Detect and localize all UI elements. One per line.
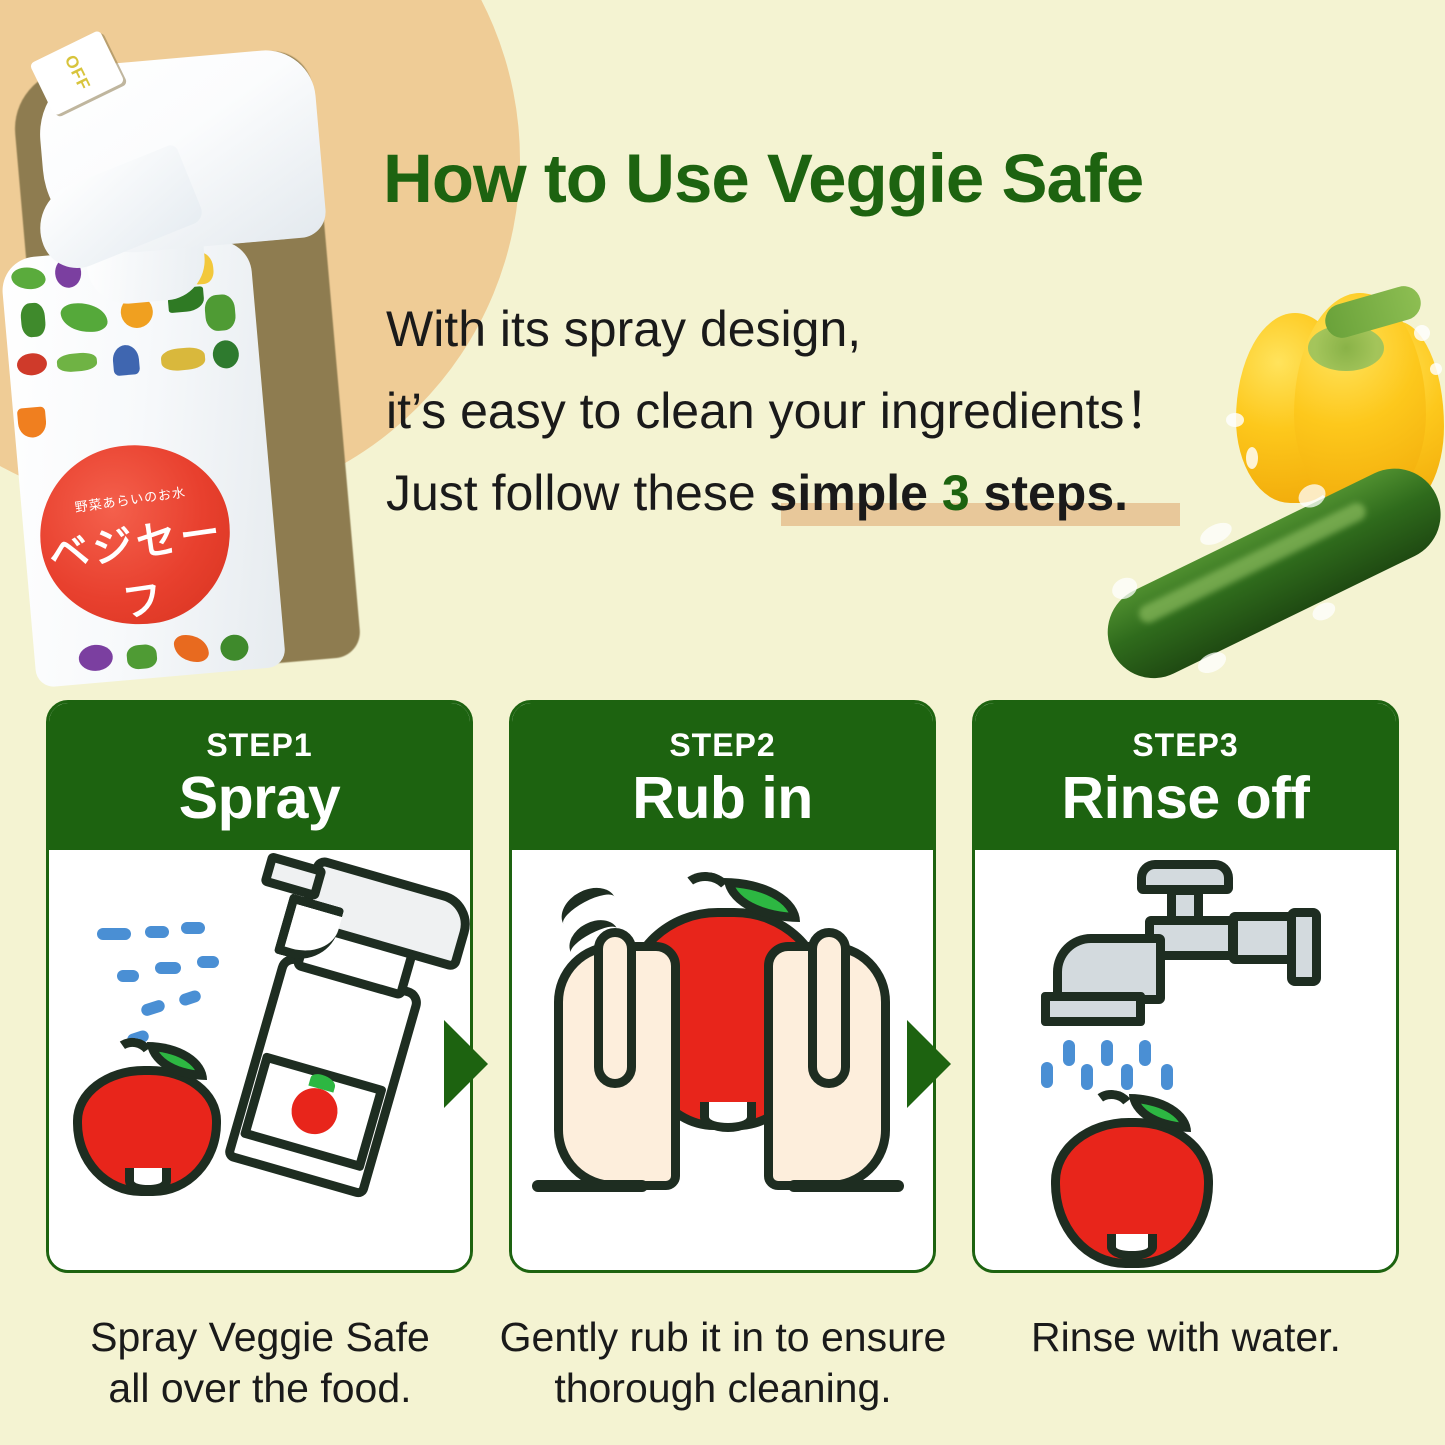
step-card-3: STEP3 Rinse off (972, 700, 1399, 1273)
page-title: How to Use Veggie Safe (383, 139, 1393, 218)
step-2-caption-line-1: Gently rub it in to ensure (493, 1312, 953, 1363)
intro-line-2: it’s easy to clean your ingredients！ (386, 370, 1286, 452)
step-arrow-1 (444, 1020, 488, 1108)
step-2-caption-line-2: thorough cleaning. (493, 1363, 953, 1414)
step-1-title: Spray (49, 767, 470, 830)
step-1-header: STEP1 Spray (49, 703, 470, 850)
step-3-caption-line-1: Rinse with water. (956, 1312, 1416, 1363)
step-2-caption: Gently rub it in to ensure thorough clea… (493, 1312, 953, 1414)
finger-icon (808, 928, 850, 1088)
step-3-illustration (975, 850, 1396, 1270)
spray-bottle-icon (170, 834, 473, 1273)
step-3-title: Rinse off (975, 767, 1396, 830)
infographic-root: 野菜あらいのお水 ベジセーフ OFF How to Use Veggie Saf… (0, 0, 1445, 1445)
step-1-caption-line-1: Spray Veggie Safe (30, 1312, 490, 1363)
step-card-2: STEP2 Rub in (509, 700, 936, 1273)
step-3-kicker: STEP3 (975, 729, 1396, 761)
intro-line-3: Just follow these simple 3 steps. (386, 452, 1286, 534)
step-1-caption-line-2: all over the food. (30, 1363, 490, 1414)
step-2-illustration (512, 850, 933, 1270)
product-bottle-image: 野菜あらいのお水 ベジセーフ OFF (0, 20, 370, 680)
water-droplet (1226, 413, 1244, 427)
step-1-illustration (49, 850, 470, 1270)
finger-icon (594, 928, 636, 1088)
step-2-header: STEP2 Rub in (512, 703, 933, 850)
step-1-caption: Spray Veggie Safe all over the food. (30, 1312, 490, 1414)
bottle-body: 野菜あらいのお水 ベジセーフ (0, 238, 286, 688)
intro-line3-prefix: Just follow these (386, 465, 770, 521)
water-droplet (1430, 363, 1442, 375)
step-3-caption: Rinse with water. (956, 1312, 1416, 1363)
intro-line-1: With its spray design, (386, 288, 1286, 370)
step-3-header: STEP3 Rinse off (975, 703, 1396, 850)
step-2-title: Rub in (512, 767, 933, 830)
step-card-1: STEP1 Spray (46, 700, 473, 1273)
intro-line3-bold-b: steps. (970, 465, 1128, 521)
step-1-kicker: STEP1 (49, 729, 470, 761)
water-droplet (1414, 325, 1430, 341)
step-2-kicker: STEP2 (512, 729, 933, 761)
intro-paragraph: With its spray design, it’s easy to clea… (386, 288, 1286, 534)
step-arrow-2 (907, 1020, 951, 1108)
intro-line3-bold-a: simple (770, 465, 942, 521)
intro-line3-number: 3 (942, 465, 970, 521)
nozzle-lock-label: OFF (60, 52, 94, 94)
